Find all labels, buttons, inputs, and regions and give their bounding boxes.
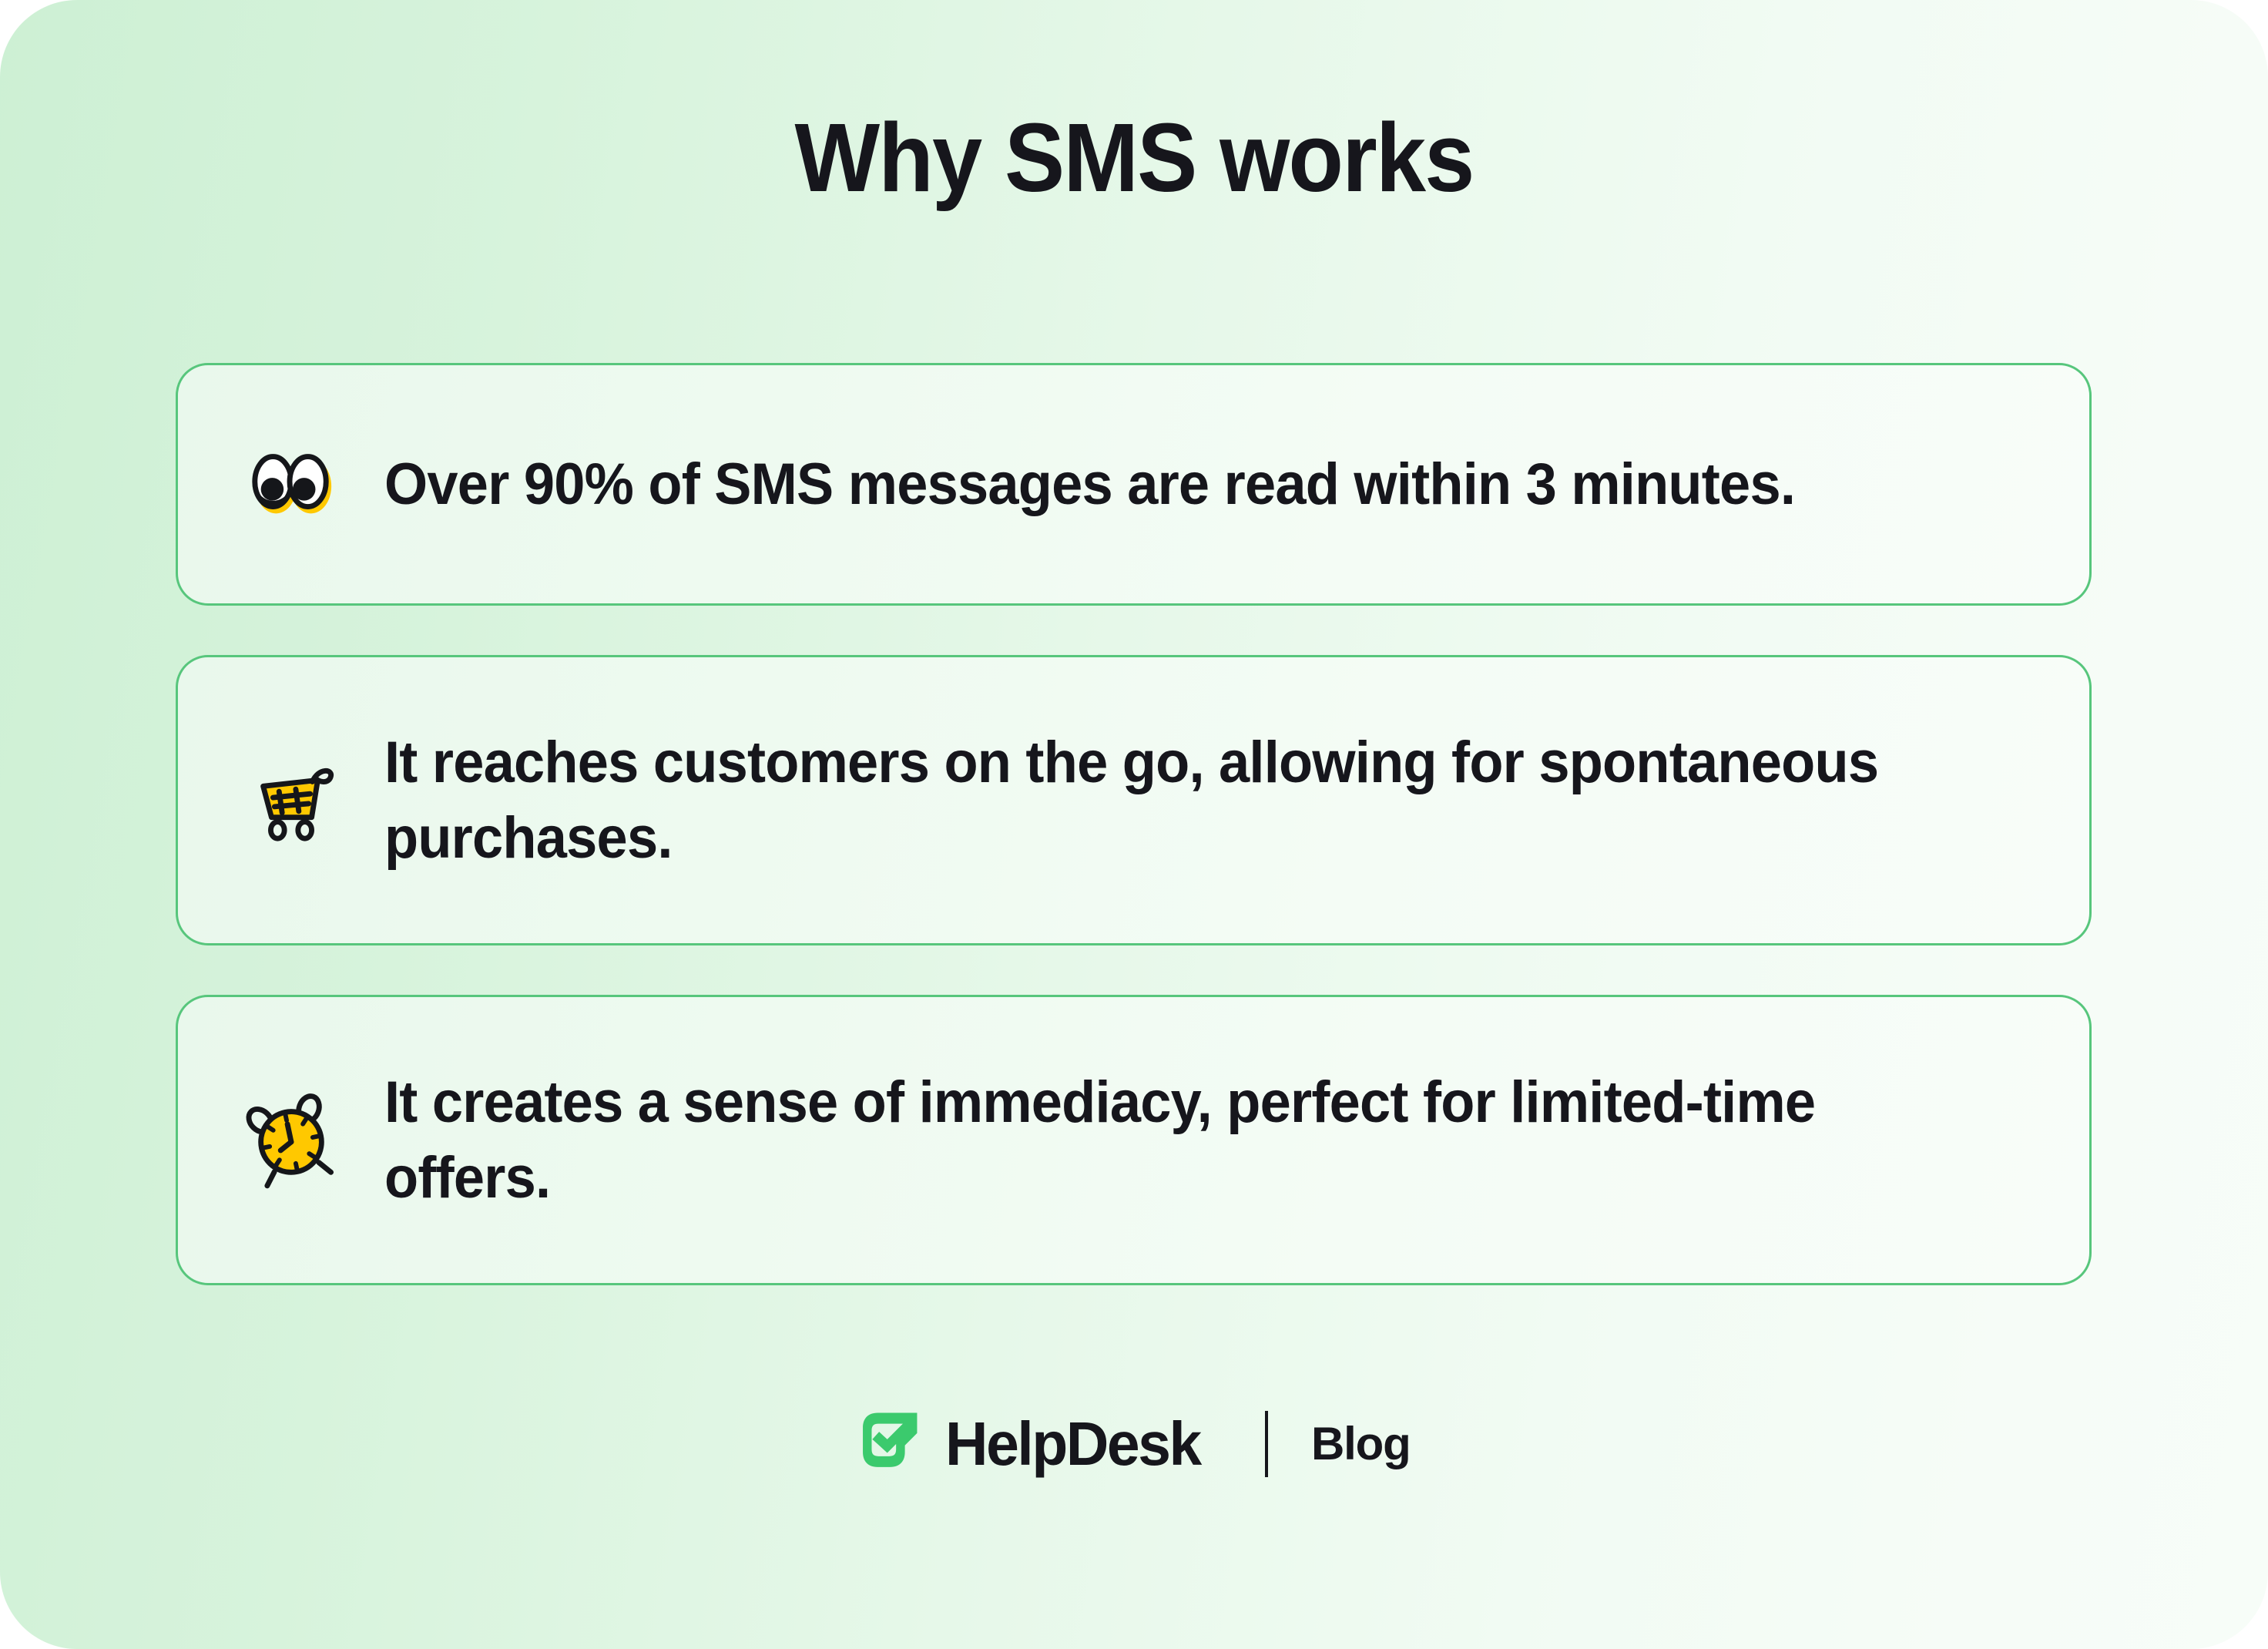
fact-card-text: It reaches customers on the go, allowing… — [384, 725, 2004, 875]
shopping-cart-emoji-icon — [246, 755, 337, 846]
alarm-clock-emoji-icon — [246, 1095, 337, 1186]
fact-card-text: It creates a sense of immediacy, perfect… — [384, 1065, 2004, 1215]
page-title: Why SMS works — [79, 109, 2189, 207]
eyes-emoji-icon — [246, 439, 337, 530]
fact-card-text: Over 90% of SMS messages are read within… — [384, 447, 2004, 522]
brand-name: HelpDesk — [945, 1413, 1200, 1475]
fact-card: Over 90% of SMS messages are read within… — [176, 363, 2092, 606]
footer-divider — [1265, 1411, 1268, 1477]
helpdesk-brand[interactable]: HelpDesk — [857, 1410, 1211, 1478]
infographic-canvas: Why SMS works Over 90% of SMS messages a… — [0, 0, 2268, 1649]
fact-card: It reaches customers on the go, allowing… — [176, 655, 2092, 945]
blog-link[interactable]: Blog — [1311, 1421, 1411, 1467]
footer: HelpDesk Blog — [0, 1410, 2268, 1478]
helpdesk-checkmark-logo-icon — [857, 1410, 925, 1478]
fact-card: It creates a sense of immediacy, perfect… — [176, 995, 2092, 1285]
fact-card-list: Over 90% of SMS messages are read within… — [176, 363, 2092, 1285]
